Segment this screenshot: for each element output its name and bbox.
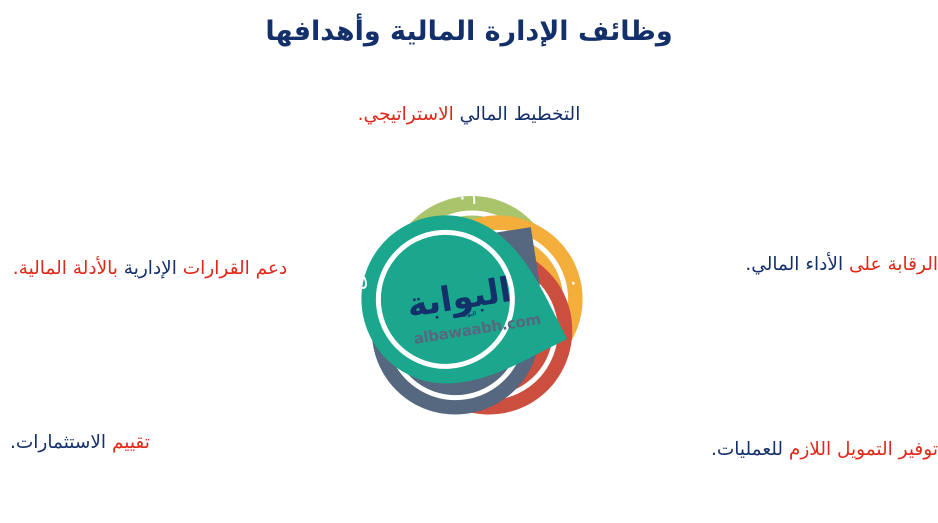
pin-label-4: تقييم الاستثمارات. bbox=[10, 430, 360, 457]
pin-number-5: ٠٥ bbox=[322, 272, 392, 293]
pin-label-2-navy: الأداء المالي. bbox=[745, 254, 843, 275]
pin-label-5-red-2: بالأدلة المالية. bbox=[13, 258, 118, 279]
pin-label-3-navy: للعمليات. bbox=[711, 439, 783, 460]
pin-label-4-red: تقييم bbox=[106, 432, 150, 453]
pin-label-1: التخطيط المالي الاستراتيجي. bbox=[0, 102, 938, 129]
pin-number-4: ٠٤ bbox=[365, 404, 435, 425]
pin-label-5-red-1: دعم القرارات bbox=[177, 258, 287, 279]
pin-number-2: ٠٢ bbox=[544, 272, 614, 293]
pin-label-3-red: توفير التمويل اللازم bbox=[783, 439, 938, 460]
pin-number-1: ٠١ bbox=[433, 187, 503, 208]
pin-number-3: ٠٣ bbox=[500, 404, 570, 425]
pin-label-2: الرقابة على الأداء المالي. bbox=[658, 252, 938, 279]
pin-label-3: توفير التمويل اللازم للعمليات. bbox=[608, 437, 938, 464]
page-title: وظائف الإدارة المالية وأهدافها bbox=[0, 16, 938, 47]
pin-label-5: دعم القرارات الإدارية بالأدلة المالية. bbox=[0, 256, 300, 283]
pin-label-1-navy: التخطيط المالي bbox=[454, 104, 581, 125]
infographic-canvas: وظائف الإدارة المالية وأهدافها bbox=[0, 0, 938, 523]
pin-label-1-red: الاستراتيجي. bbox=[358, 104, 454, 125]
pin-label-5-navy: الإدارية bbox=[118, 258, 177, 279]
pin-label-4-navy: الاستثمارات. bbox=[10, 432, 106, 453]
pin-label-2-red: الرقابة على bbox=[843, 254, 938, 275]
